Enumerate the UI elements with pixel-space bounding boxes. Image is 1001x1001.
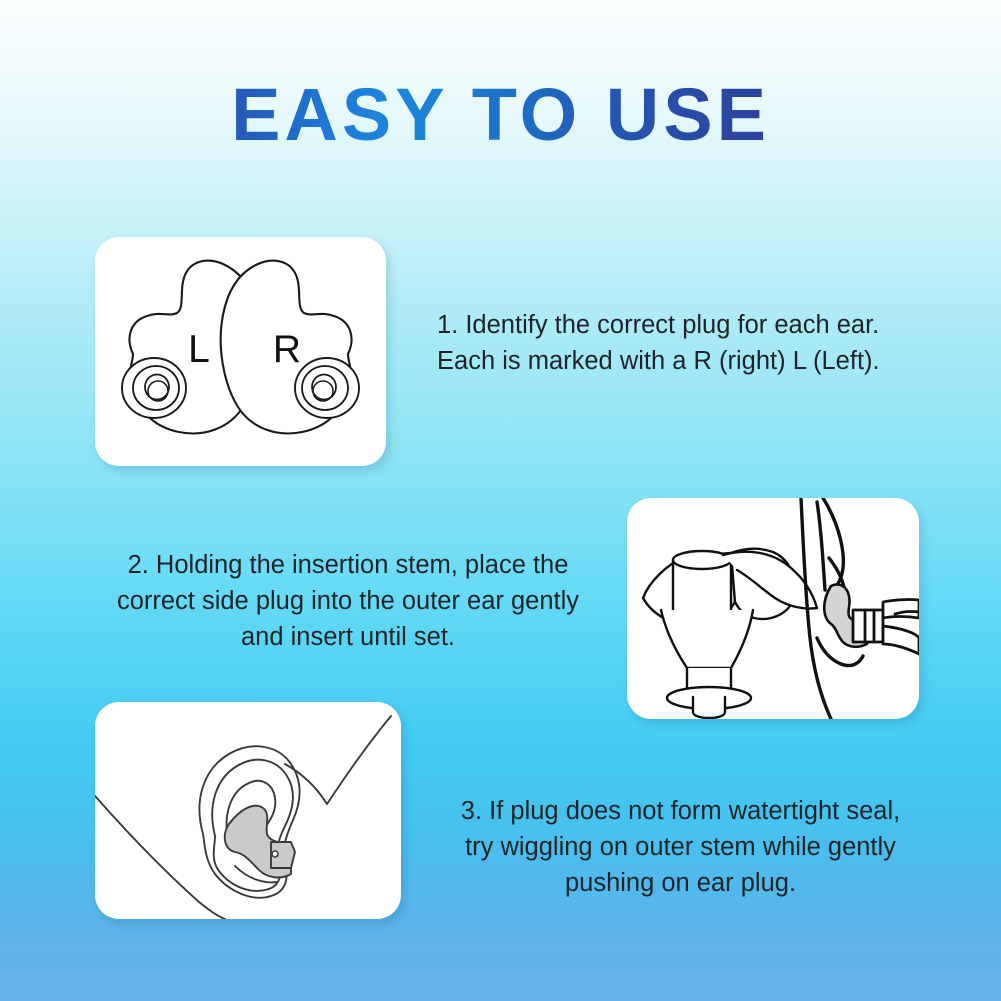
left-right-earplugs-drawing: L R bbox=[95, 237, 386, 466]
illustration-card-holding-stem bbox=[627, 498, 919, 719]
poster-root: EASY TO USE L R bbox=[0, 0, 1001, 1001]
finger-bottom bbox=[883, 626, 919, 654]
left-plug-label: L bbox=[188, 328, 210, 371]
ear-profile-inner-line bbox=[817, 502, 825, 590]
holding-insertion-stem-drawing bbox=[627, 498, 919, 719]
illustration-card-sealed-ear bbox=[95, 702, 401, 919]
head-contour-upper bbox=[285, 716, 391, 804]
plug-base-stub bbox=[693, 697, 725, 718]
plug-cone-body bbox=[661, 610, 753, 668]
instruction-step-1: 1. Identify the correct plug for each ea… bbox=[437, 307, 957, 379]
plug-vent-hole bbox=[272, 851, 278, 857]
plug-cylinder-top bbox=[673, 551, 731, 569]
finger-top bbox=[883, 600, 919, 619]
page-title: EASY TO USE bbox=[0, 78, 1001, 152]
head-contour-lower bbox=[95, 796, 225, 919]
instruction-step-2: 2. Holding the insertion stem, place the… bbox=[88, 547, 608, 656]
right-plug-label: R bbox=[273, 328, 301, 371]
earplug-seated-in-ear-drawing bbox=[95, 702, 401, 919]
instruction-step-3: 3. If plug does not form watertight seal… bbox=[418, 793, 943, 902]
plug-stem-block bbox=[853, 610, 883, 642]
illustration-card-left-right-plugs: L R bbox=[95, 237, 386, 466]
